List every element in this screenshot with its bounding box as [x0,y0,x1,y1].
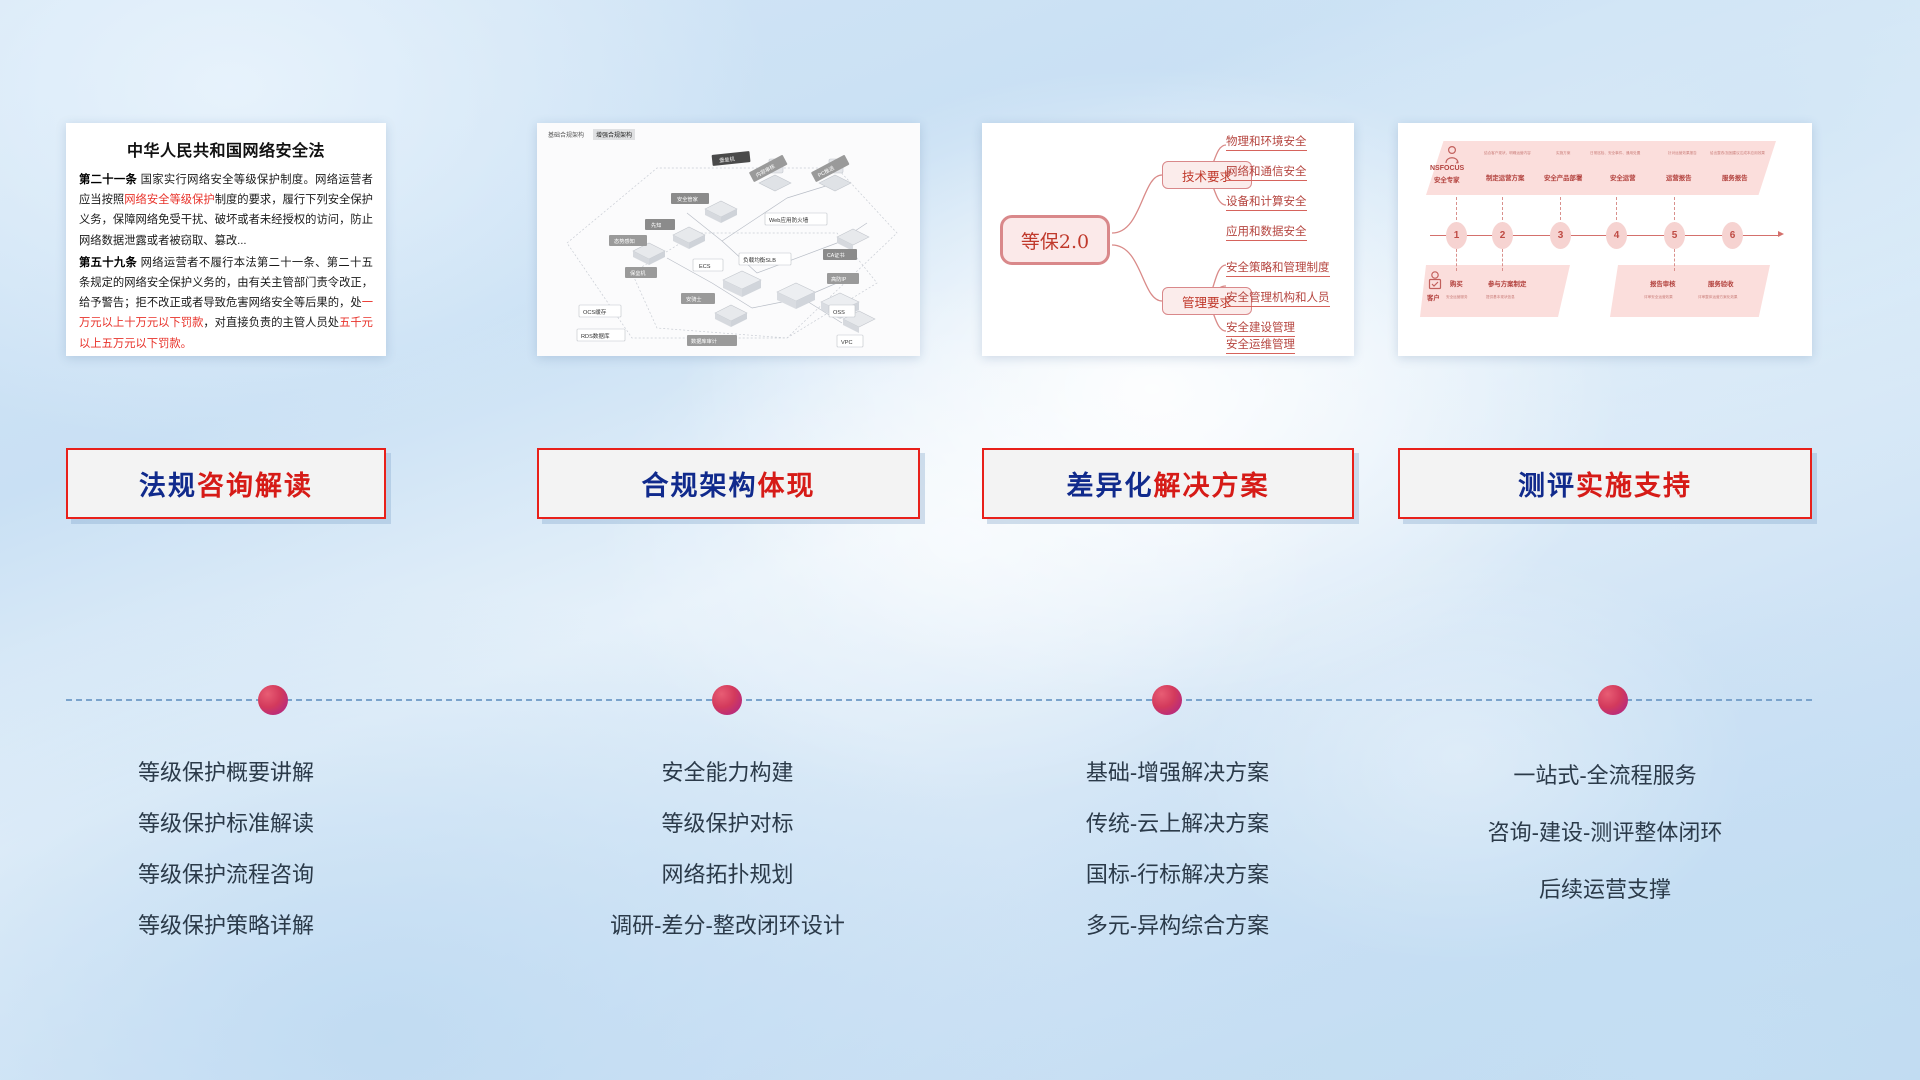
detail-item: 一站式-全流程服务 [1398,747,1812,804]
law-document: 中华人民共和国网络安全法 第二十一条 国家实行网络安全等级保护制度。网络运营者应… [66,123,386,356]
top-step-sub-3: 日常巡检、安全事件、通用处置 [1590,151,1640,156]
headline-row: 法规咨询解读 合规架构体现 差异化解决方案 测评实施支持 [0,448,1920,520]
detail-column-4: 一站式-全流程服务 咨询-建设-测评整体闭环 后续运营支撑 [1398,747,1812,918]
top-step-sub-2: 实施方案 [1556,151,1570,156]
headline-box-solution[interactable]: 差异化解决方案 [982,448,1354,519]
node-label-anti-ddos: 高防IP [831,275,847,283]
headline-1-blue: 法规 [139,464,197,503]
bottom-step-title-2: 参与方案制定 [1488,279,1526,288]
timeline-node-1[interactable]: 1 [1446,222,1467,249]
card-compliance-architecture: 基础合规架构 增强合规架构 [537,123,920,356]
top-step-title-2: 安全产品部署 [1544,173,1582,182]
detail-item: 传统-云上解决方案 [950,798,1405,849]
node-label-rds: RDS数据库 [581,332,610,340]
node-label-ecs: ECS [699,264,711,270]
top-step-title-1: 制定运营方案 [1486,173,1524,182]
timeline-node-3[interactable]: 3 [1550,222,1571,249]
node-label-db-audit: 数据库审计 [691,337,717,345]
mindmap-leaf-network: 网络和通信安全 [1226,163,1307,181]
mindmap-leaf-org: 安全管理机构和人员 [1226,289,1330,307]
law-article-21-highlight: 网络安全等级保护 [124,194,214,206]
detail-column-3: 基础-增强解决方案 传统-云上解决方案 国标-行标解决方案 多元-异构综合方案 [950,747,1405,951]
bottom-step-sub-3: 评审安全运营效果 [1644,295,1673,300]
rail-node-3[interactable] [1152,685,1182,715]
customer-icon [1426,271,1444,291]
node-label-xianzhi: 先知 [651,221,661,229]
headline-3-red: 解决方案 [1154,464,1270,503]
law-title: 中华人民共和国网络安全法 [79,137,373,161]
timeline-rail [66,699,1812,701]
detail-column-2: 安全能力构建 等级保护对标 网络拓扑规划 调研-差分-整改闭环设计 [505,747,950,951]
detail-item: 调研-差分-整改闭环设计 [505,900,950,951]
expert-band [1426,141,1776,195]
detail-item: 安全能力构建 [505,747,950,798]
headline-3-blue: 差异化 [1067,464,1154,503]
headline-4-red: 实施支持 [1576,464,1692,503]
node-label-vpc: VPC [841,340,853,346]
bottom-step-sub-2: 提供基本现状信息 [1486,295,1515,300]
card-dengbao-mindmap: 等保2.0 技术要求 管理要求 物理和环境安全 网络和通信安全 设备和计算安全 … [982,123,1354,356]
detail-item: 等级保护策略详解 [66,900,386,951]
rail-node-1[interactable] [258,685,288,715]
law-article-59-text-b: ，对直接负责的主管人员处 [203,317,339,329]
customer-band-right [1610,265,1770,317]
node-label-anqishi: 安骑士 [686,295,702,303]
node-label-oss: OSS [833,310,845,316]
detail-item: 咨询-建设-测评整体闭环 [1398,804,1812,861]
top-step-title-5: 服务报告 [1722,173,1748,182]
detail-item: 等级保护流程咨询 [66,849,386,900]
timeline-node-5[interactable]: 5 [1664,222,1685,249]
bottom-step-title-3: 报告审核 [1650,279,1676,288]
headline-1-red: 咨询解读 [197,464,313,503]
mindmap-leaf-physical: 物理和环境安全 [1226,133,1307,151]
node-label-bastion2: 保垒机 [630,269,646,277]
detail-item: 等级保护标准解读 [66,798,386,849]
headline-box-architecture[interactable]: 合规架构体现 [537,448,920,519]
rail-node-4[interactable] [1598,685,1628,715]
timeline-arrow-icon [1778,231,1784,237]
top-step-title-4: 运营报告 [1666,173,1692,182]
headline-2-blue: 合规架构 [642,464,758,503]
card-cybersecurity-law: 中华人民共和国网络安全法 第二十一条 国家实行网络安全等级保护制度。网络运营者应… [66,123,386,356]
bottom-step-sub-4: 评审整体运营方案化效果 [1698,295,1738,300]
top-step-sub-5: 给出整改/加固建议达成本应用效果 [1710,151,1765,156]
expert-label-2: 安全专家 [1434,175,1460,184]
customer-label: 客户 [1427,293,1440,302]
bottom-step-sub-1: 安全运营服务 [1446,295,1468,300]
card-service-timeline: NSFOCUS 安全专家 结合客户现状，明确运营内容 制定运营方案 实施方案 安… [1398,123,1812,356]
node-label-security-steward: 安全管家 [677,195,698,203]
top-step-sub-1: 结合客户现状，明确运营内容 [1484,151,1531,156]
top-step-title-3: 安全运营 [1610,173,1636,182]
detail-item: 多元-异构综合方案 [950,900,1405,951]
timeline-node-2[interactable]: 2 [1492,222,1513,249]
bottom-step-title-4: 服务验收 [1708,279,1734,288]
headline-box-regulation[interactable]: 法规咨询解读 [66,448,386,519]
mindmap-leaf-construction: 安全建设管理 [1226,319,1295,337]
architecture-svg: 堡垒机 安全管家 先知 态势感知 保垒机 ECS 安骑士 [537,123,920,356]
node-label-ca: CA证书 [827,251,845,259]
architecture-diagram: 基础合规架构 增强合规架构 [537,123,920,356]
mindmap: 等保2.0 技术要求 管理要求 物理和环境安全 网络和通信安全 设备和计算安全 … [982,123,1354,356]
service-timeline: NSFOCUS 安全专家 结合客户现状，明确运营内容 制定运营方案 实施方案 安… [1398,123,1812,356]
node-label-situational-awareness: 态势感知 [614,237,635,245]
image-card-row: 中华人民共和国网络安全法 第二十一条 国家实行网络安全等级保护制度。网络运营者应… [0,123,1920,363]
headline-box-assessment[interactable]: 测评实施支持 [1398,448,1812,519]
mindmap-root: 等保2.0 [1000,215,1110,265]
node-label-ocs-cache: OCS缓存 [583,308,607,316]
law-article-59: 第五十九条 网络运营者不履行本法第二十一条、第二十五条规定的网络安全保护义务的，… [79,253,373,354]
timeline-node-6[interactable]: 6 [1722,222,1743,249]
top-step-sub-4: 针对运营效果报告 [1668,151,1697,156]
node-label-waf: Web应用防火墙 [769,216,809,224]
detail-item: 等级保护概要讲解 [66,747,386,798]
slide-stage: 中华人民共和国网络安全法 第二十一条 国家实行网络安全等级保护制度。网络运营者应… [0,0,1920,1080]
detail-column-1: 等级保护概要讲解 等级保护标准解读 等级保护流程咨询 等级保护策略详解 [66,747,386,951]
law-article-21-label: 第二十一条 [79,174,137,186]
law-article-59-label: 第五十九条 [79,257,137,269]
mindmap-leaf-device: 设备和计算安全 [1226,193,1307,211]
timeline-node-4[interactable]: 4 [1606,222,1627,249]
mindmap-leaf-ops: 安全运维管理 [1226,336,1295,354]
headline-4-blue: 测评 [1518,464,1576,503]
detail-item: 网络拓扑规划 [505,849,950,900]
expert-label-1: NSFOCUS [1430,165,1464,172]
node-label-slb: 负载均衡SLB [743,256,776,264]
detail-item: 后续运营支撑 [1398,861,1812,918]
law-article-21: 第二十一条 国家实行网络安全等级保护制度。网络运营者应当按照网络安全等级保护制度… [79,170,373,251]
headline-2-red: 体现 [758,464,816,503]
detail-item: 基础-增强解决方案 [950,747,1405,798]
bottom-step-title-1: 购买 [1450,279,1463,288]
expert-icon [1442,145,1462,165]
rail-node-2[interactable] [712,685,742,715]
detail-item: 等级保护对标 [505,798,950,849]
mindmap-leaf-application: 应用和数据安全 [1226,223,1307,241]
detail-item: 国标-行标解决方案 [950,849,1405,900]
mindmap-leaf-policy: 安全策略和管理制度 [1226,259,1330,277]
